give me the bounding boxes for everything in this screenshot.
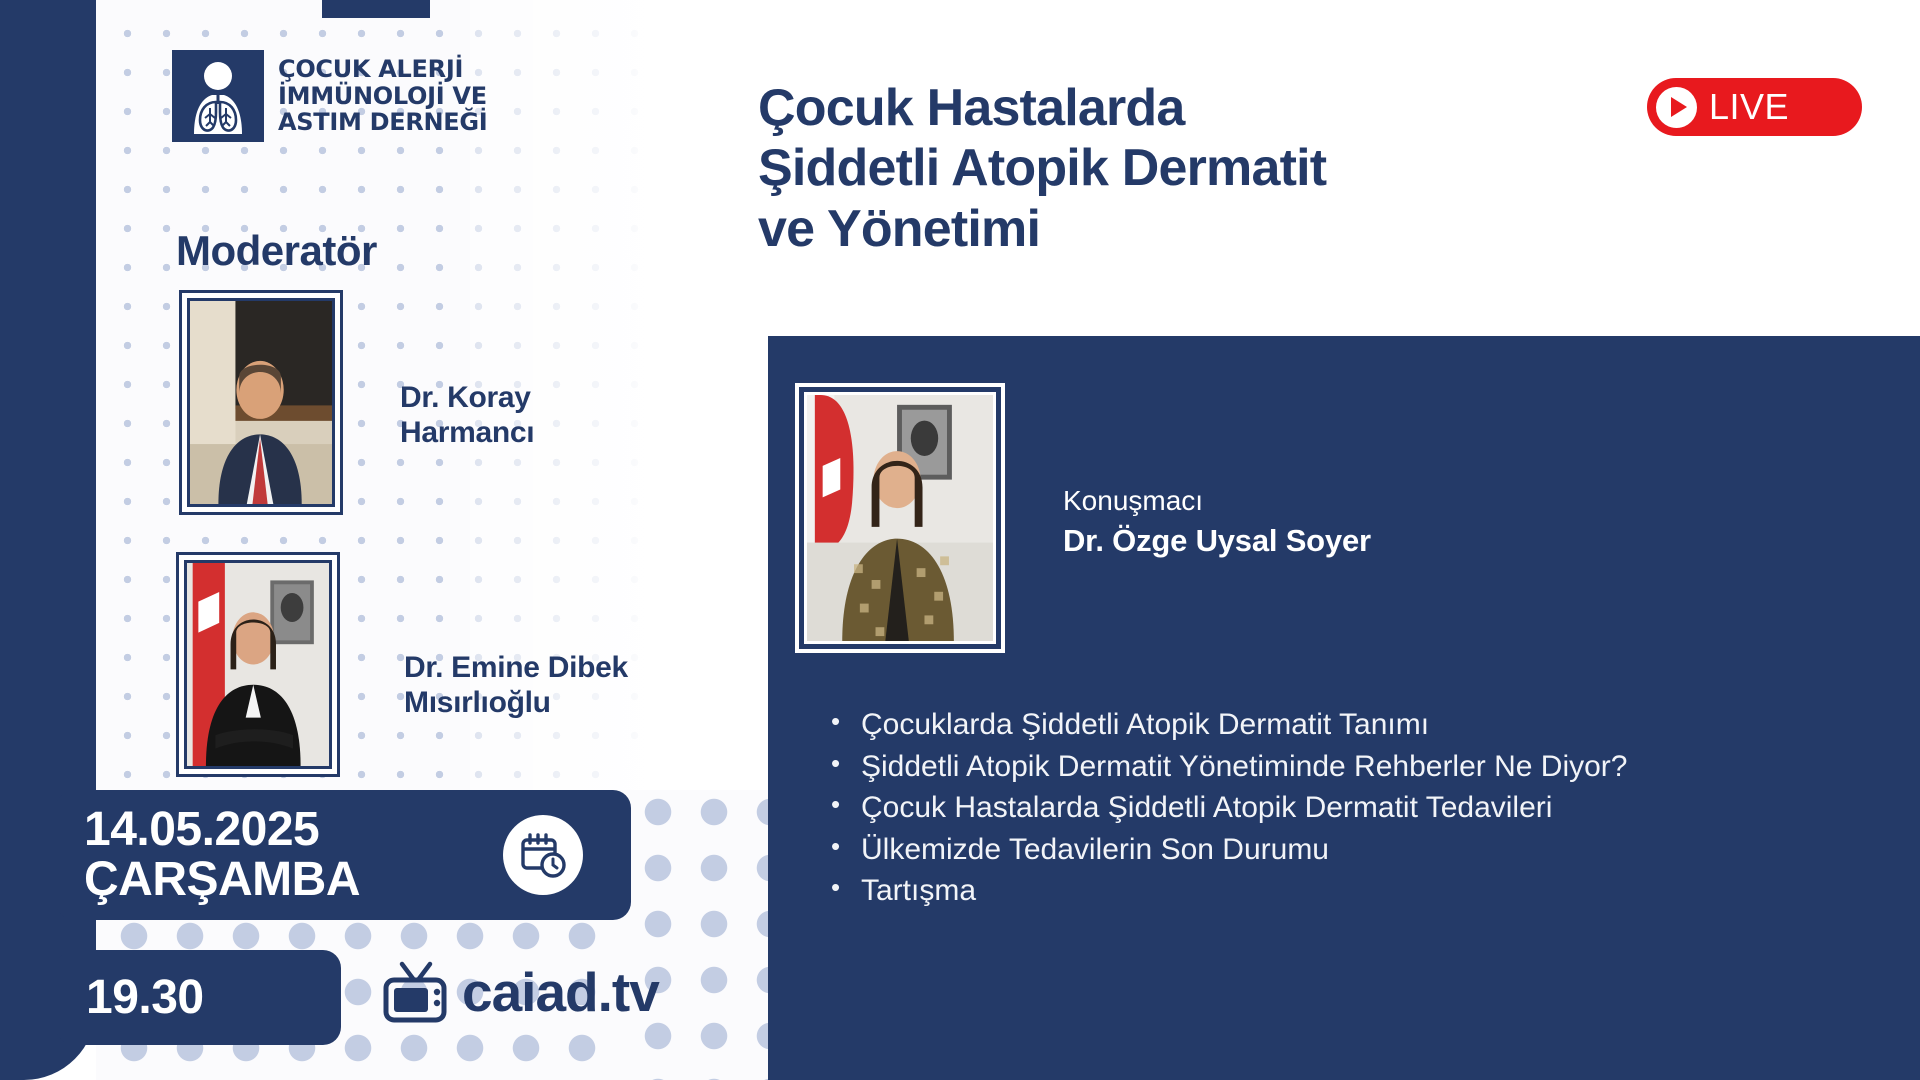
speaker-photo (795, 383, 1005, 653)
title-line-3: ve Yönetimi (758, 199, 1598, 259)
moderator-name-1: Dr. Koray Harmancı (400, 380, 650, 451)
live-badge[interactable]: LIVE (1647, 78, 1862, 136)
top-accent-tab (322, 0, 430, 18)
title-line-2: Şiddetli Atopik Dermatit (758, 138, 1598, 198)
organization-name: ÇOCUK ALERJİ İMMÜNOLOJİ VE ASTIM DERNEĞİ (278, 56, 487, 137)
event-date-value: 14.05.2025 (84, 805, 360, 855)
moderator-name-2-line-1: Dr. Emine Dibek (404, 650, 704, 685)
topic-item: Çocuklarda Şiddetli Atopik Dermatit Tanı… (825, 705, 1870, 745)
website-text: caiad.tv (462, 960, 659, 1024)
logo-line-1: ÇOCUK ALERJİ (278, 56, 487, 83)
event-date: 14.05.2025 ÇARŞAMBA (84, 805, 360, 905)
logo-line-3: ASTIM DERNEĞİ (278, 109, 487, 136)
event-time: 19.30 (86, 970, 204, 1025)
live-label: LIVE (1709, 86, 1789, 128)
calendar-clock-icon (503, 815, 583, 895)
topic-item: Ülkemizde Tedavilerin Son Durumu (825, 830, 1870, 870)
lungs-person-icon (172, 50, 264, 142)
left-accent-bar-cap (0, 0, 96, 40)
speaker-name: Dr. Özge Uysal Soyer (1063, 523, 1371, 559)
topic-item: Çocuk Hastalarda Şiddetli Atopik Dermati… (825, 788, 1870, 828)
organization-logo: ÇOCUK ALERJİ İMMÜNOLOJİ VE ASTIM DERNEĞİ (172, 50, 487, 142)
moderator-name-2: Dr. Emine Dibek Mısırlıoğlu (404, 650, 704, 721)
moderator-name-1-line-1: Dr. Koray (400, 380, 650, 415)
webinar-poster: ÇOCUK ALERJİ İMMÜNOLOJİ VE ASTIM DERNEĞİ… (0, 0, 1920, 1080)
moderator-heading: Moderatör (176, 227, 377, 275)
time-badge: 19.30 (56, 950, 341, 1045)
event-weekday-value: ÇARŞAMBA (84, 855, 360, 905)
logo-line-2: İMMÜNOLOJİ VE (278, 83, 487, 110)
date-badge: 14.05.2025 ÇARŞAMBA (56, 790, 631, 920)
title-line-1: Çocuk Hastalarda (758, 78, 1598, 138)
moderator-photo-1 (179, 290, 343, 515)
tv-icon (380, 960, 452, 1024)
moderator-name-2-line-2: Mısırlıoğlu (404, 685, 704, 720)
moderator-photo-2 (176, 552, 340, 777)
website-link[interactable]: caiad.tv (380, 960, 659, 1024)
speaker-role: Konuşmacı (1063, 485, 1203, 517)
topic-list: Çocuklarda Şiddetli Atopik Dermatit Tanı… (825, 705, 1870, 913)
moderator-name-1-line-2: Harmancı (400, 415, 650, 450)
topic-item: Tartışma (825, 871, 1870, 911)
page-title: Çocuk Hastalarda Şiddetli Atopik Dermati… (758, 78, 1598, 259)
topic-item: Şiddetli Atopik Dermatit Yönetiminde Reh… (825, 747, 1870, 787)
play-icon (1656, 87, 1697, 128)
